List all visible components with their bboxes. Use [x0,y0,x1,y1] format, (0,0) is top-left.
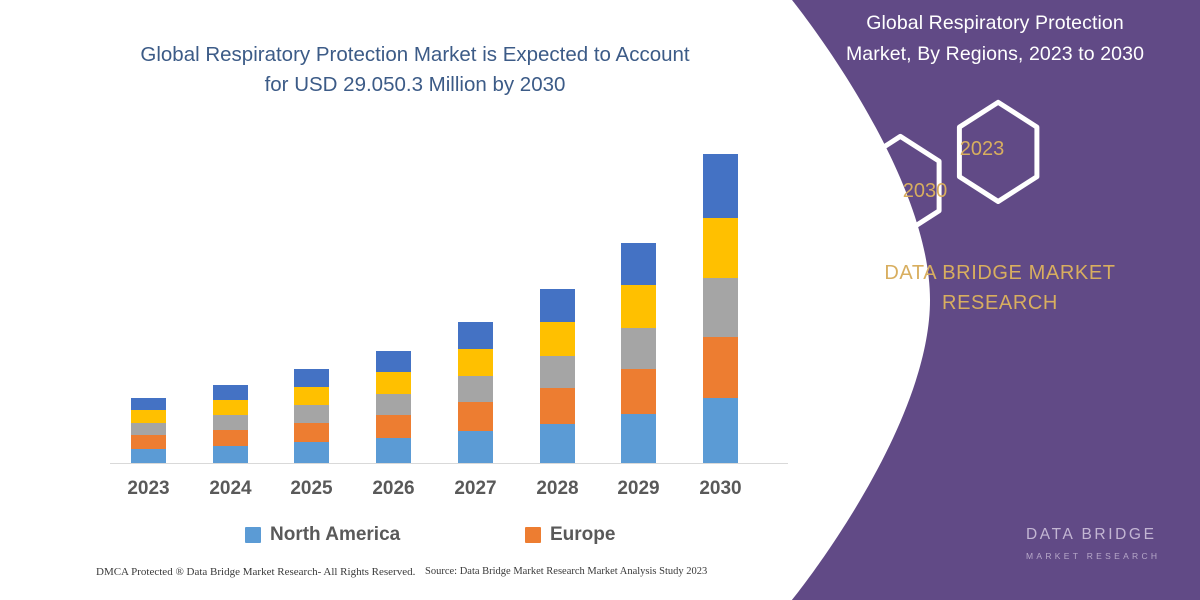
bar-segment-asia-pacific-2025 [294,405,329,423]
x-axis-label-2029: 2029 [599,478,679,500]
bar-segment-europe-2027 [458,402,493,431]
x-axis-labels: 20232024202520262027202820292030 [110,478,790,508]
bar-segment-europe-2024 [213,430,248,446]
bar-segment-middle-east-africa-2029 [621,285,656,328]
bar-2023 [131,398,166,463]
bar-segment-middle-east-africa-2030 [703,218,738,278]
bar-segment-south-america-2023 [131,398,166,410]
x-axis-label-2023: 2023 [109,478,189,500]
bar-segment-north-america-2025 [294,442,329,463]
bar-2028 [540,289,575,463]
bar-segment-north-america-2027 [458,431,493,463]
bar-segment-middle-east-africa-2025 [294,387,329,405]
bar-segment-north-america-2023 [131,449,166,463]
brand-name-line2: RESEARCH [820,288,1180,318]
legend-swatch-icon [525,527,541,543]
logo-wordmark: DATA BRIDGE MARKET RESEARCH [1026,526,1160,561]
bar-segment-north-america-2026 [376,438,411,463]
bar-segment-middle-east-africa-2028 [540,322,575,356]
bar-segment-asia-pacific-2028 [540,356,575,388]
bar-segment-south-america-2027 [458,322,493,349]
bar-2026 [376,351,411,463]
x-axis-label-2028: 2028 [518,478,598,500]
bar-2025 [294,369,329,463]
infographic-page: Global Respiratory Protection Market is … [0,0,1200,600]
panel-title-line2: Market, By Regions, 2023 to 2030 [810,39,1180,70]
legend-label: Europe [550,524,615,546]
bar-segment-south-america-2029 [621,243,656,285]
x-axis-label-2030: 2030 [681,478,761,500]
bar-2024 [213,385,248,463]
legend-label: North America [270,524,400,546]
bar-segment-south-america-2025 [294,369,329,387]
legend-swatch-icon [245,527,261,543]
bar-segment-middle-east-africa-2027 [458,349,493,376]
footer-source: Source: Data Bridge Market Research Mark… [425,566,707,577]
footer-copyright: DMCA Protected ® Data Bridge Market Rese… [96,566,415,578]
x-axis-label-2024: 2024 [191,478,271,500]
chart-legend: North AmericaEurope [110,524,790,558]
company-logo: DATA BRIDGE MARKET RESEARCH [960,512,1190,582]
brand-panel: Global Respiratory Protection Market, By… [780,0,1200,600]
page-title: Global Respiratory Protection Market is … [70,40,760,100]
legend-item-europe[interactable]: Europe [525,524,615,546]
page-title-line1: Global Respiratory Protection Market is … [70,40,760,70]
panel-title: Global Respiratory Protection Market, By… [810,8,1180,70]
page-title-line2: for USD 29.050.3 Million by 2030 [70,70,760,100]
bar-segment-north-america-2029 [621,414,656,463]
legend-item-north-america[interactable]: North America [245,524,400,546]
bar-2027 [458,322,493,463]
bar-segment-asia-pacific-2027 [458,376,493,402]
bar-segment-europe-2028 [540,388,575,424]
x-axis-label-2026: 2026 [354,478,434,500]
bar-segment-asia-pacific-2024 [213,415,248,430]
bar-segment-south-america-2026 [376,351,411,372]
x-axis-label-2027: 2027 [436,478,516,500]
brand-name: DATA BRIDGE MARKET RESEARCH [820,258,1180,318]
bar-segment-middle-east-africa-2023 [131,410,166,423]
panel-title-line1: Global Respiratory Protection [810,8,1180,39]
bar-segment-south-america-2024 [213,385,248,400]
bar-segment-middle-east-africa-2024 [213,400,248,415]
bar-segment-asia-pacific-2026 [376,394,411,415]
x-axis-label-2025: 2025 [272,478,352,500]
footer: DMCA Protected ® Data Bridge Market Rese… [0,566,790,592]
bar-segment-north-america-2024 [213,446,248,463]
bar-segment-europe-2029 [621,369,656,414]
bar-2029 [621,243,656,463]
x-axis-line [110,463,788,464]
logo-line1: DATA BRIDGE [1026,526,1160,544]
bar-segment-asia-pacific-2029 [621,328,656,369]
logo-line2: MARKET RESEARCH [1026,551,1160,561]
bar-segment-europe-2030 [703,337,738,398]
bar-segment-middle-east-africa-2026 [376,372,411,394]
bar-2030 [703,154,738,463]
bar-chart-plot [110,140,790,463]
bar-segment-south-america-2030 [703,154,738,218]
bar-segment-asia-pacific-2023 [131,423,166,435]
bar-segment-europe-2026 [376,415,411,438]
brand-name-line1: DATA BRIDGE MARKET [820,258,1180,288]
bar-segment-north-america-2028 [540,424,575,463]
bar-segment-south-america-2028 [540,289,575,322]
bar-segment-europe-2025 [294,423,329,442]
bar-segment-europe-2023 [131,435,166,449]
bar-segment-asia-pacific-2030 [703,278,738,337]
bar-segment-north-america-2030 [703,398,738,463]
